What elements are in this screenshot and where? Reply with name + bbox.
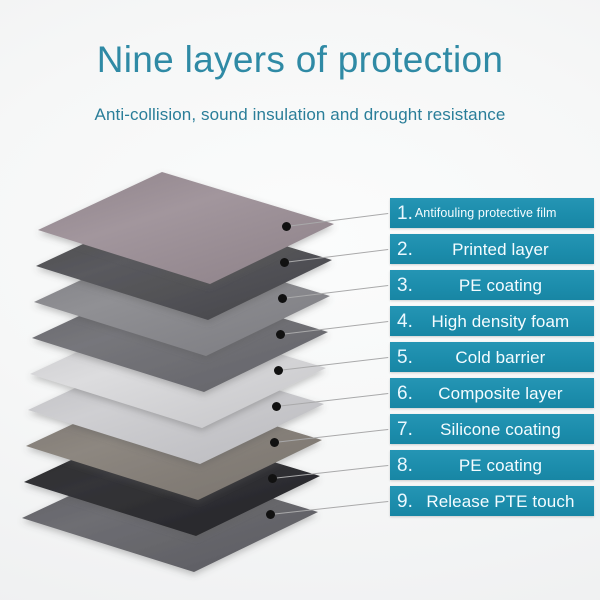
layer-name: PE coating xyxy=(413,456,594,475)
layer-plane[interactable] xyxy=(34,168,374,298)
layer-label-8[interactable]: 8.PE coating xyxy=(390,450,594,480)
layer-stack xyxy=(0,0,390,600)
layer-name: Cold barrier xyxy=(413,348,594,367)
layer-number: 8. xyxy=(390,456,413,475)
layer-name: Antifouling protective film xyxy=(413,204,594,223)
layer-label-7[interactable]: 7.Silicone coating xyxy=(390,414,594,444)
layer-name: Release PTE touch xyxy=(413,492,594,511)
layer-number: 9. xyxy=(390,492,413,511)
layer-number: 6. xyxy=(390,384,413,403)
layer-surface xyxy=(38,172,334,284)
layer-number: 2. xyxy=(390,240,413,259)
layer-number: 4. xyxy=(390,312,413,331)
layer-label-2[interactable]: 2.Printed layer xyxy=(390,234,594,264)
layer-name: Silicone coating xyxy=(413,420,594,439)
layer-number: 1. xyxy=(390,204,413,223)
layer-label-5[interactable]: 5.Cold barrier xyxy=(390,342,594,372)
layer-number: 3. xyxy=(390,276,413,295)
layer-name: High density foam xyxy=(413,312,594,331)
layer-label-4[interactable]: 4.High density foam xyxy=(390,306,594,336)
layer-name: Printed layer xyxy=(413,240,594,259)
layer-number: 7. xyxy=(390,420,413,439)
layer-name: Composite layer xyxy=(413,384,594,403)
layer-label-3[interactable]: 3.PE coating xyxy=(390,270,594,300)
layer-label-9[interactable]: 9.Release PTE touch xyxy=(390,486,594,516)
layer-label-1[interactable]: 1.Antifouling protective film xyxy=(390,198,594,228)
layer-number: 5. xyxy=(390,348,413,367)
label-list: 1.Antifouling protective film2.Printed l… xyxy=(390,198,594,522)
layer-name: PE coating xyxy=(413,276,594,295)
infographic-root: Nine layers of protection Anti-collision… xyxy=(0,0,600,600)
layer-label-6[interactable]: 6.Composite layer xyxy=(390,378,594,408)
